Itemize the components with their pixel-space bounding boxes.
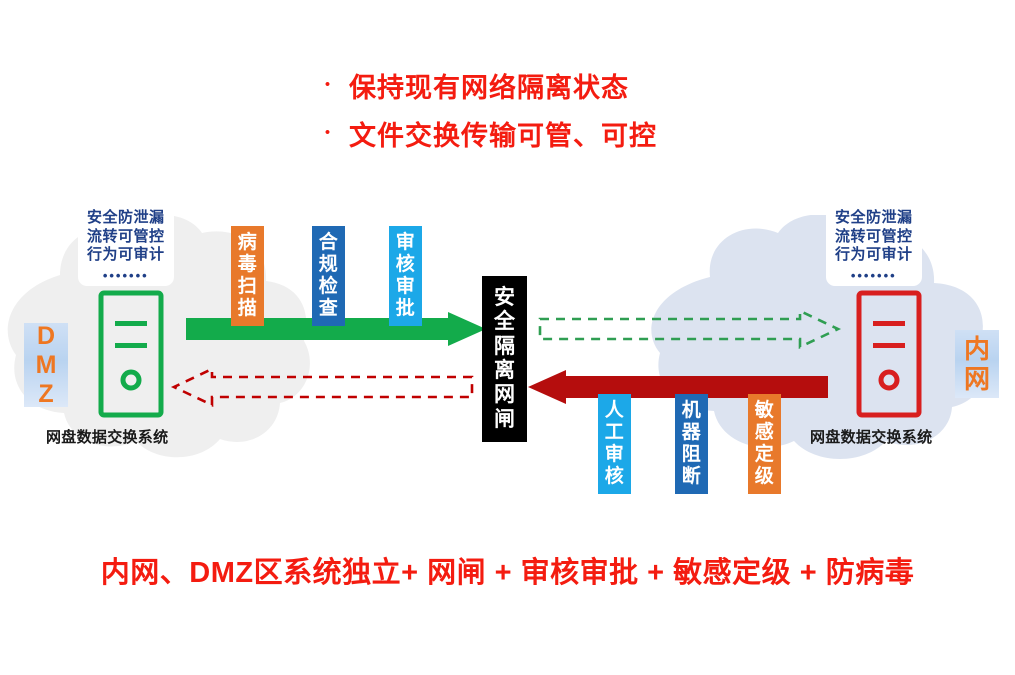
gateway-char: 离: [494, 359, 515, 383]
security-gateway-box[interactable]: 安 全 隔 离 网 闸: [482, 276, 527, 442]
vbox-char: 合: [319, 232, 339, 254]
bullet-list: ・ 保持现有网络隔离状态 ・ 文件交换传输可管、可控: [318, 74, 958, 169]
control-box-sensitivity-grading[interactable]: 敏 感 定 级: [748, 394, 781, 494]
control-box-virus-scan[interactable]: 病 毒 扫 描: [231, 226, 264, 326]
gateway-char: 隔: [494, 335, 515, 359]
bullet-text-1: 保持现有网络隔离状态: [349, 74, 629, 104]
vbox-char: 毒: [238, 254, 258, 276]
intranet-bubble-line-2: 流转可管控: [835, 228, 913, 247]
vbox-char: 敏: [755, 400, 775, 422]
vbox-char: 扫: [238, 276, 258, 298]
vbox-char: 审: [396, 232, 416, 254]
dmz-server-icon: [98, 290, 164, 418]
gateway-char: 闸: [494, 408, 515, 432]
vbox-char: 级: [755, 466, 775, 488]
vbox-char: 核: [605, 466, 625, 488]
dmz-server-caption: 网盘数据交换系统: [46, 426, 168, 447]
vbox-char: 机: [682, 400, 702, 422]
dmz-char-z: Z: [38, 380, 53, 409]
dmz-char-d: D: [37, 322, 55, 351]
intranet-bubble-line-3: 行为可审计: [835, 246, 913, 265]
gateway-to-intranet-arrow: [540, 310, 840, 348]
vbox-char: 描: [238, 298, 258, 320]
control-box-manual-review[interactable]: 人 工 审 核: [598, 394, 631, 494]
control-box-review-approval[interactable]: 审 核 审 批: [389, 226, 422, 326]
vbox-char: 感: [755, 422, 775, 444]
dmz-char-m: M: [36, 351, 57, 380]
intranet-callout-bubble: 安全防泄漏 流转可管控 行为可审计 •••••••: [826, 203, 922, 286]
vbox-char: 器: [682, 422, 702, 444]
bullet-marker-icon: ・: [318, 124, 337, 143]
vbox-char: 断: [682, 466, 702, 488]
control-box-compliance-check[interactable]: 合 规 检 查: [312, 226, 345, 326]
bullet-marker-icon: ・: [318, 76, 337, 95]
gateway-char: 全: [494, 310, 515, 334]
vbox-char: 审: [605, 444, 625, 466]
intranet-char-1: 内: [964, 334, 990, 364]
bullet-text-2: 文件交换传输可管、可控: [349, 122, 657, 152]
bullet-item-1: ・ 保持现有网络隔离状态: [318, 74, 958, 104]
gateway-char: 网: [494, 383, 515, 407]
intranet-char-2: 网: [964, 364, 990, 394]
bullet-item-2: ・ 文件交换传输可管、可控: [318, 122, 958, 152]
diagram-canvas: ・ 保持现有网络隔离状态 ・ 文件交换传输可管、可控 D M Z 安全防泄漏 流…: [0, 0, 1015, 675]
vbox-char: 核: [396, 254, 416, 276]
vbox-char: 阻: [682, 444, 702, 466]
intranet-bubble-line-1: 安全防泄漏: [835, 209, 913, 228]
intranet-bubble-dots-icon: •••••••: [835, 269, 913, 282]
vbox-char: 定: [755, 444, 775, 466]
dmz-bubble-dots-icon: •••••••: [87, 269, 165, 282]
vbox-char: 审: [396, 276, 416, 298]
vbox-char: 查: [319, 298, 339, 320]
vbox-char: 人: [605, 400, 625, 422]
control-box-machine-block[interactable]: 机 器 阻 断: [675, 394, 708, 494]
dmz-bubble-line-1: 安全防泄漏: [87, 209, 165, 228]
intranet-server-icon: [856, 290, 922, 418]
vbox-char: 检: [319, 276, 339, 298]
vbox-char: 工: [605, 422, 625, 444]
summary-caption: 内网、DMZ区系统独立+ 网闸 + 审核审批 + 敏感定级 + 防病毒: [0, 549, 1015, 591]
dmz-bubble-line-2: 流转可管控: [87, 228, 165, 247]
vbox-char: 批: [396, 298, 416, 320]
gateway-char: 安: [494, 286, 515, 310]
dmz-callout-bubble: 安全防泄漏 流转可管控 行为可审计 •••••••: [78, 203, 174, 286]
zone-label-dmz: D M Z: [24, 323, 68, 407]
zone-label-intranet: 内 网: [955, 330, 999, 398]
vbox-char: 规: [319, 254, 339, 276]
dmz-bubble-line-3: 行为可审计: [87, 246, 165, 265]
vbox-char: 病: [238, 232, 258, 254]
gateway-to-dmz-arrow: [172, 368, 472, 406]
intranet-server-caption: 网盘数据交换系统: [810, 426, 932, 447]
